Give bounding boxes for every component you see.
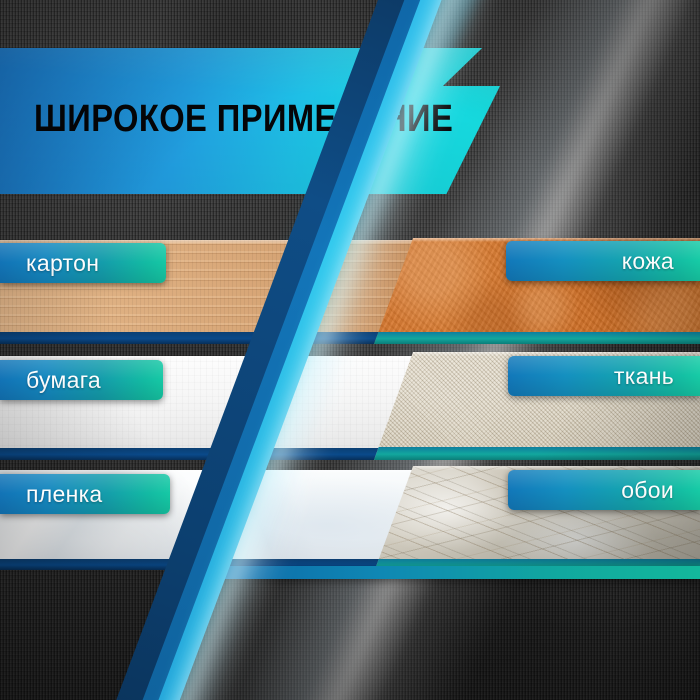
material-tag-leather[interactable]: кожа — [506, 241, 700, 281]
material-tag-cardboard[interactable]: картон — [0, 243, 166, 283]
material-tag-label: бумага — [26, 369, 101, 392]
material-tag-label: обои — [621, 479, 674, 502]
poster-canvas: ШИРОКОЕ ПРИМЕНЕНИЕ картон кожа бумага тк… — [0, 0, 700, 700]
material-tag-wallpaper[interactable]: обои — [508, 470, 700, 510]
material-tag-film[interactable]: пленка — [0, 474, 170, 514]
material-tag-label: кожа — [622, 250, 674, 273]
material-tag-label: картон — [26, 252, 99, 275]
material-tag-paper[interactable]: бумага — [0, 360, 163, 400]
material-tag-fabric[interactable]: ткань — [508, 356, 700, 396]
bottom-accent-bar — [210, 566, 700, 579]
material-tag-label: ткань — [614, 365, 674, 388]
material-tag-label: пленка — [26, 483, 103, 506]
vignette-overlay — [0, 0, 700, 700]
